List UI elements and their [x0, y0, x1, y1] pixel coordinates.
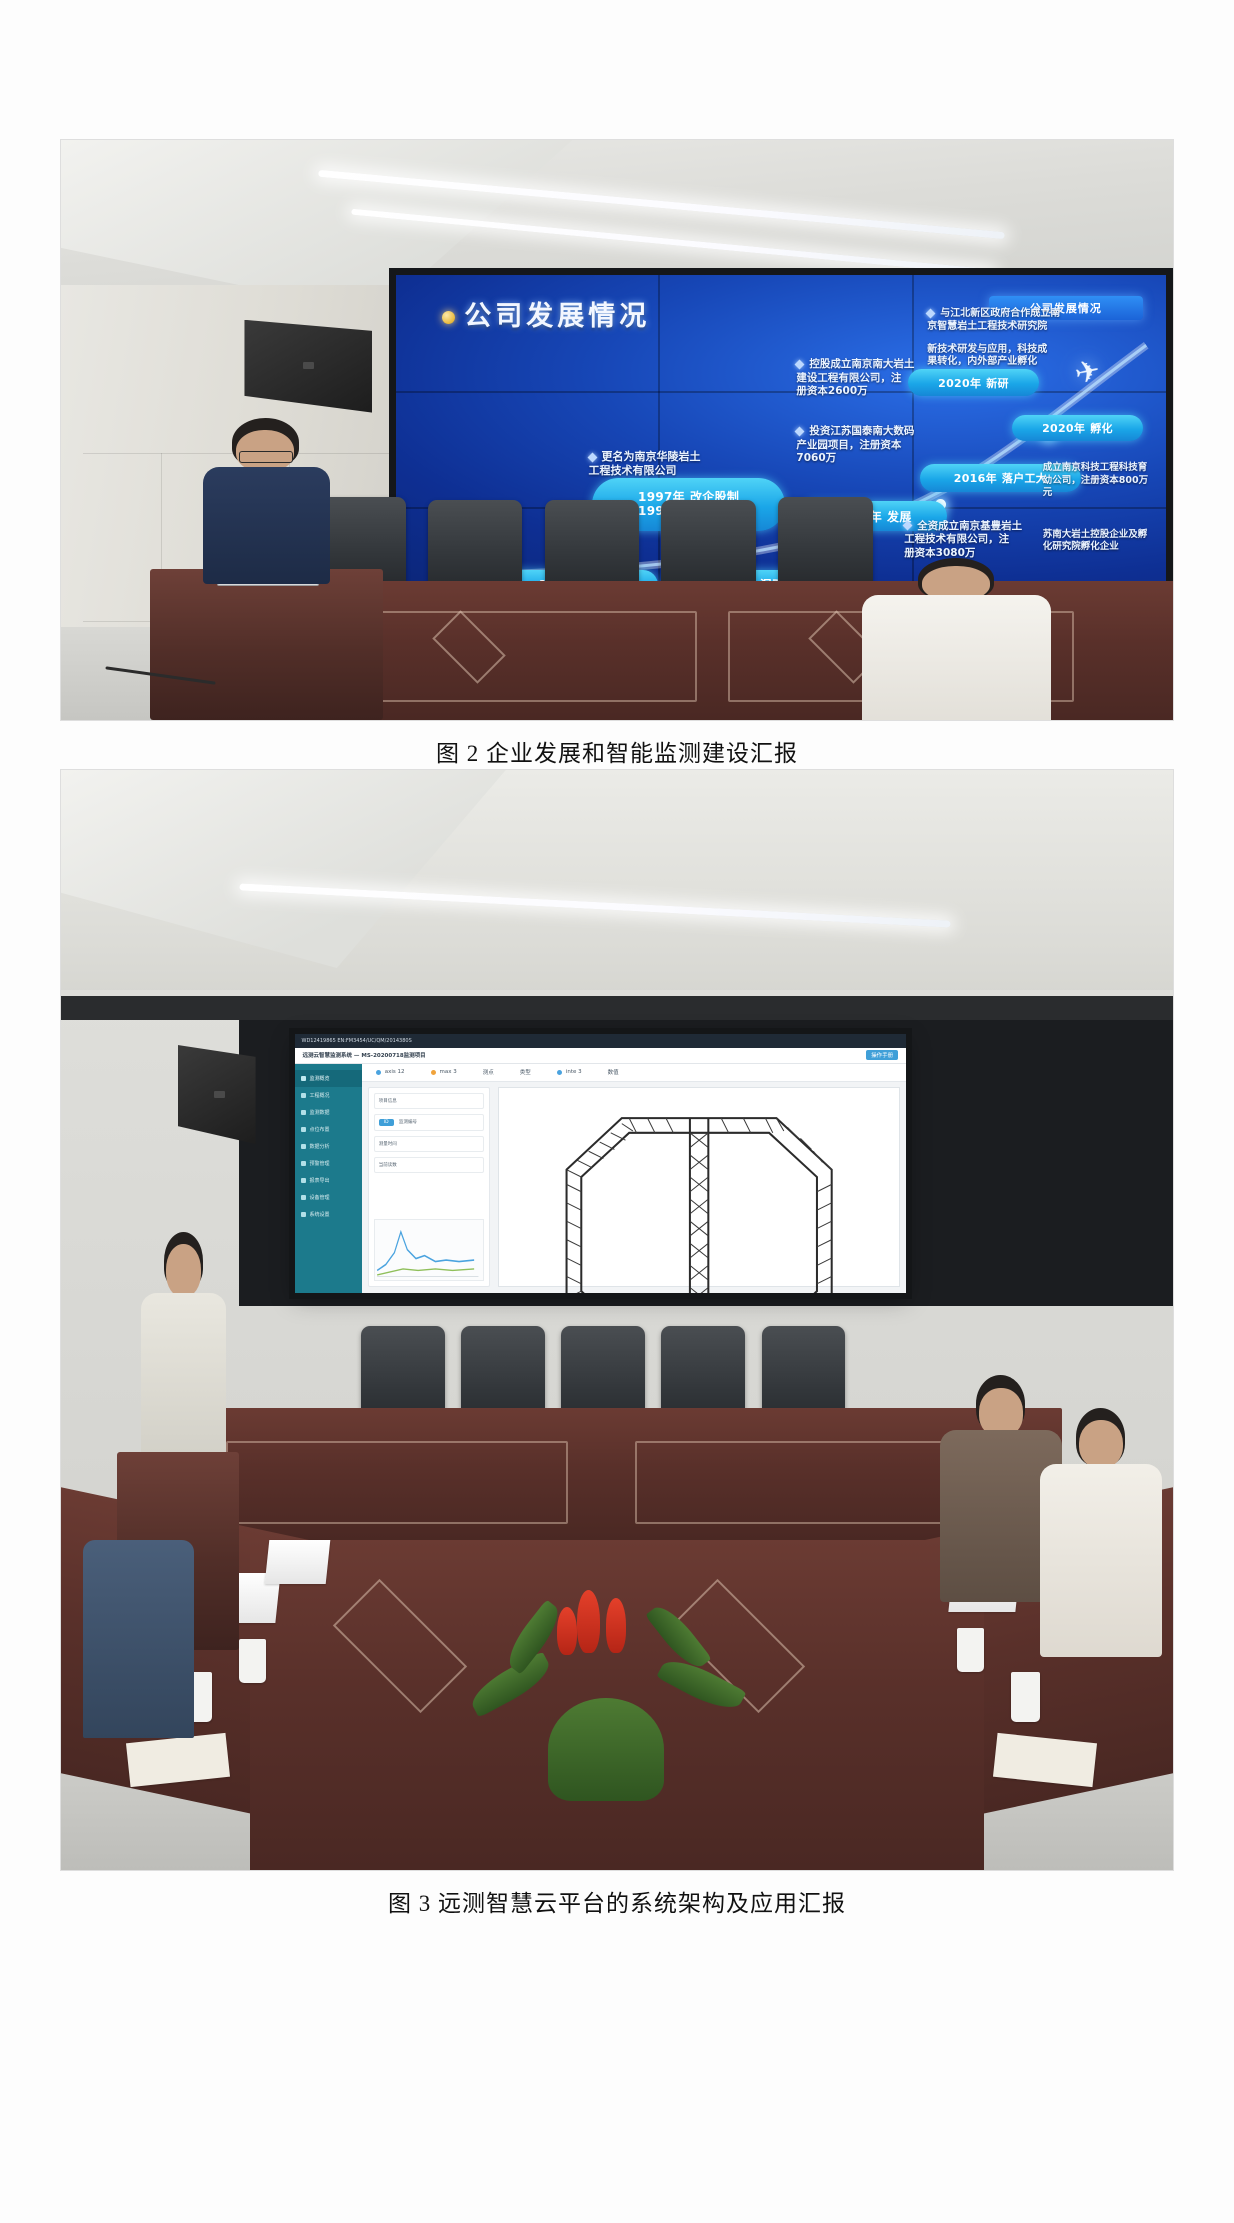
dashboard-topbar: WD12419865 EN:FM3454/UC/QM/2014380S: [295, 1034, 907, 1048]
tab-bullet-icon: [431, 1070, 436, 1075]
sidebar-item-overview[interactable]: 监测概览: [295, 1070, 362, 1087]
presenter-shirt: [203, 467, 330, 584]
tab-max[interactable]: max 3: [431, 1069, 457, 1075]
sidebar-icon: [301, 1161, 306, 1166]
figure-3-photograph: WD12419865 EN:FM3454/UC/QM/2014380S 远测云智…: [61, 770, 1173, 1870]
manual-button[interactable]: 操作手册: [866, 1050, 898, 1060]
plant-flower: [577, 1590, 600, 1653]
panel-title: 项目信息: [374, 1093, 484, 1109]
tab-axis[interactable]: axis 12: [376, 1069, 405, 1075]
table-panel-left: [351, 611, 697, 701]
field-pill: ID: [379, 1119, 394, 1126]
panel-field-3: 当前读数: [374, 1157, 484, 1173]
attendee-shirt: [1040, 1464, 1162, 1658]
dashboard-subheader: 远测云智慧监测系统 — MS-20200718监测项目 操作手册: [295, 1048, 907, 1064]
sidebar-item-points[interactable]: 点位布置: [295, 1121, 362, 1138]
figure-2-photograph: 公司发展情况 公司发展情况 ✈: [61, 140, 1173, 720]
speaker-grill-2: [214, 1091, 225, 1098]
paper-cup-2: [239, 1639, 266, 1683]
tab-inte[interactable]: inte 3: [557, 1069, 582, 1075]
table-panel-b1: [226, 1441, 568, 1524]
attendee-shirt: [862, 595, 1051, 720]
sidebar-item-report[interactable]: 报表导出: [295, 1172, 362, 1189]
chair-3: [545, 500, 640, 593]
presenter: [194, 418, 339, 580]
chair-5: [778, 497, 873, 590]
sidebar-item-settings[interactable]: 系统设置: [295, 1206, 362, 1223]
dashboard-topbar-code: WD12419865 EN:FM3454/UC/QM/2014380S: [302, 1038, 412, 1044]
document-page: 公司发展情况 公司发展情况 ✈: [0, 0, 1234, 2223]
sidebar-icon: [301, 1110, 306, 1115]
sidebar-icon: [301, 1178, 306, 1183]
attendee-left-1: [83, 1540, 194, 1738]
panel-field-1: ID 监测编号: [374, 1114, 484, 1131]
monitoring-dashboard-screen: WD12419865 EN:FM3454/UC/QM/2014380S 远测云智…: [295, 1034, 907, 1293]
left-line-chart: [374, 1219, 484, 1280]
table-diamond-f1: [333, 1578, 467, 1712]
sidebar-icon: [301, 1144, 306, 1149]
dashboard-left-panel: 项目信息 ID 监测编号 测量时间 当前读数: [368, 1087, 490, 1287]
sidebar-icon: [301, 1093, 306, 1098]
potted-plant: [461, 1584, 750, 1870]
sidebar-icon: [301, 1212, 306, 1217]
table-panel-b2: [635, 1441, 977, 1524]
sidebar-item-project[interactable]: 工程概况: [295, 1087, 362, 1104]
panel-field-2: 测量时间: [374, 1136, 484, 1152]
figure-2-caption: 图 2 企业发展和智能监测建设汇报: [0, 734, 1234, 768]
sidebar-icon: [301, 1195, 306, 1200]
structure-diagram-canvas: [498, 1087, 900, 1287]
paper-cup-3: [1011, 1672, 1040, 1722]
tab-bullet-icon: [557, 1070, 562, 1075]
figure-3-caption: 图 3 远测智慧云平台的系统架构及应用汇报: [0, 1884, 1234, 1918]
dashboard-title: 远测云智慧监测系统 — MS-20200718监测项目: [303, 1051, 426, 1059]
attendee-foreground: [862, 558, 1051, 720]
plant-leaf: [548, 1698, 664, 1801]
dashboard-main: axis 12 max 3 测点 类型: [362, 1064, 906, 1293]
podium: [150, 569, 384, 720]
glasses-icon: [239, 451, 293, 463]
sidebar-item-device[interactable]: 设备管理: [295, 1189, 362, 1206]
sidebar-item-alarm[interactable]: 预警管理: [295, 1155, 362, 1172]
sidebar-item-analysis[interactable]: 数据分析: [295, 1138, 362, 1155]
dashboard-tab-strip: axis 12 max 3 测点 类型: [362, 1064, 906, 1082]
chair-4: [661, 500, 756, 593]
sidebar-icon: [301, 1127, 306, 1132]
paper-cup-4: [957, 1628, 984, 1672]
figure-3: WD12419865 EN:FM3454/UC/QM/2014380S 远测云智…: [0, 770, 1234, 1918]
filter-label-1[interactable]: 测点: [483, 1068, 494, 1076]
nameplate-2: [264, 1540, 330, 1584]
dashboard-sidebar: 监测概览 工程概况 监测数据 点位布置: [295, 1064, 362, 1293]
presenter-2: [139, 1232, 228, 1474]
conference-table-back: [172, 1408, 1062, 1540]
attendee-shirt: [83, 1540, 194, 1738]
truss-frame-diagram: [515, 1096, 883, 1293]
figure-2: 公司发展情况 公司发展情况 ✈: [0, 140, 1234, 768]
sidebar-icon: [301, 1076, 306, 1081]
attendee-head: [1079, 1420, 1123, 1468]
plant-flower: [557, 1607, 577, 1656]
attendee-right-2: [1040, 1408, 1162, 1650]
speaker-grill: [303, 362, 314, 369]
filter-label-2[interactable]: 类型: [520, 1068, 531, 1076]
chair-2: [428, 500, 523, 593]
presenter-2-head: [166, 1244, 202, 1297]
tab-bullet-icon: [376, 1070, 381, 1075]
plant-flower: [606, 1598, 626, 1652]
sidebar-item-data[interactable]: 监测数据: [295, 1104, 362, 1121]
filter-label-3[interactable]: 数值: [608, 1068, 619, 1076]
wall-trim: [61, 996, 1173, 1020]
